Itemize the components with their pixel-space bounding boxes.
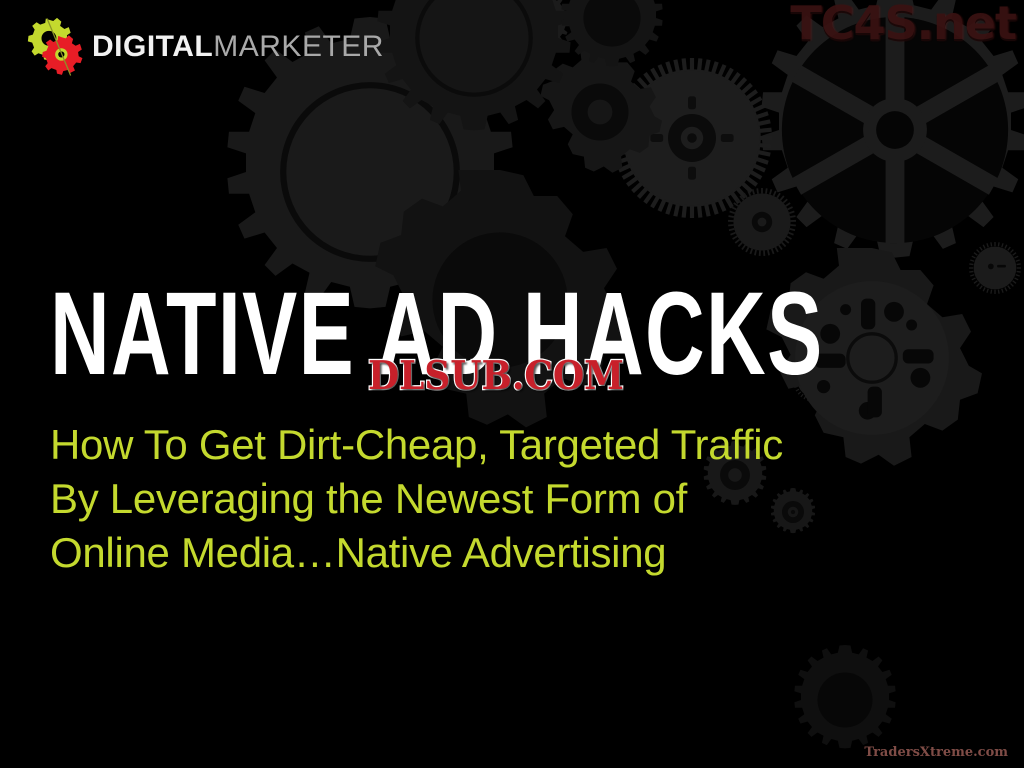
brand-wordmark: DIGITALMARKETER	[92, 32, 384, 62]
tradersxtreme-watermark: TradersXtreme.com	[864, 745, 1008, 760]
gear-medium-upper-center	[540, 50, 662, 173]
subhead: How To Get Dirt-Cheap, Targeted Traffic …	[50, 418, 880, 580]
tc4s-watermark: TC4S.net	[790, 0, 1016, 50]
dlsub-watermark: DLSUB.COM	[368, 357, 624, 396]
gear-dim-topleft	[377, 0, 570, 130]
gear-right-edge-small	[969, 242, 1021, 294]
gear-small-top	[514, 0, 569, 48]
subhead-line-3: Online Media…Native Advertising	[50, 526, 880, 580]
digital-marketer-logo: DIGITALMARKETER	[26, 16, 384, 78]
subhead-line-1: How To Get Dirt-Cheap, Targeted Traffic	[50, 418, 880, 472]
wordmark-digital: DIGITAL	[92, 30, 213, 63]
gear-fine-small-right	[728, 188, 796, 256]
slide-canvas: DIGITALMARKETER TC4S.net NATIVE AD HACKS…	[0, 0, 1024, 768]
gear-finetooth-upper	[612, 58, 772, 218]
wordmark-marketer: MARKETER	[213, 30, 384, 63]
two-gears-icon	[26, 16, 88, 78]
subhead-line-2: By Leveraging the Newest Form of	[50, 472, 880, 526]
gear-bottom-partial	[794, 645, 895, 748]
gear-corner-faint	[561, 0, 662, 66]
